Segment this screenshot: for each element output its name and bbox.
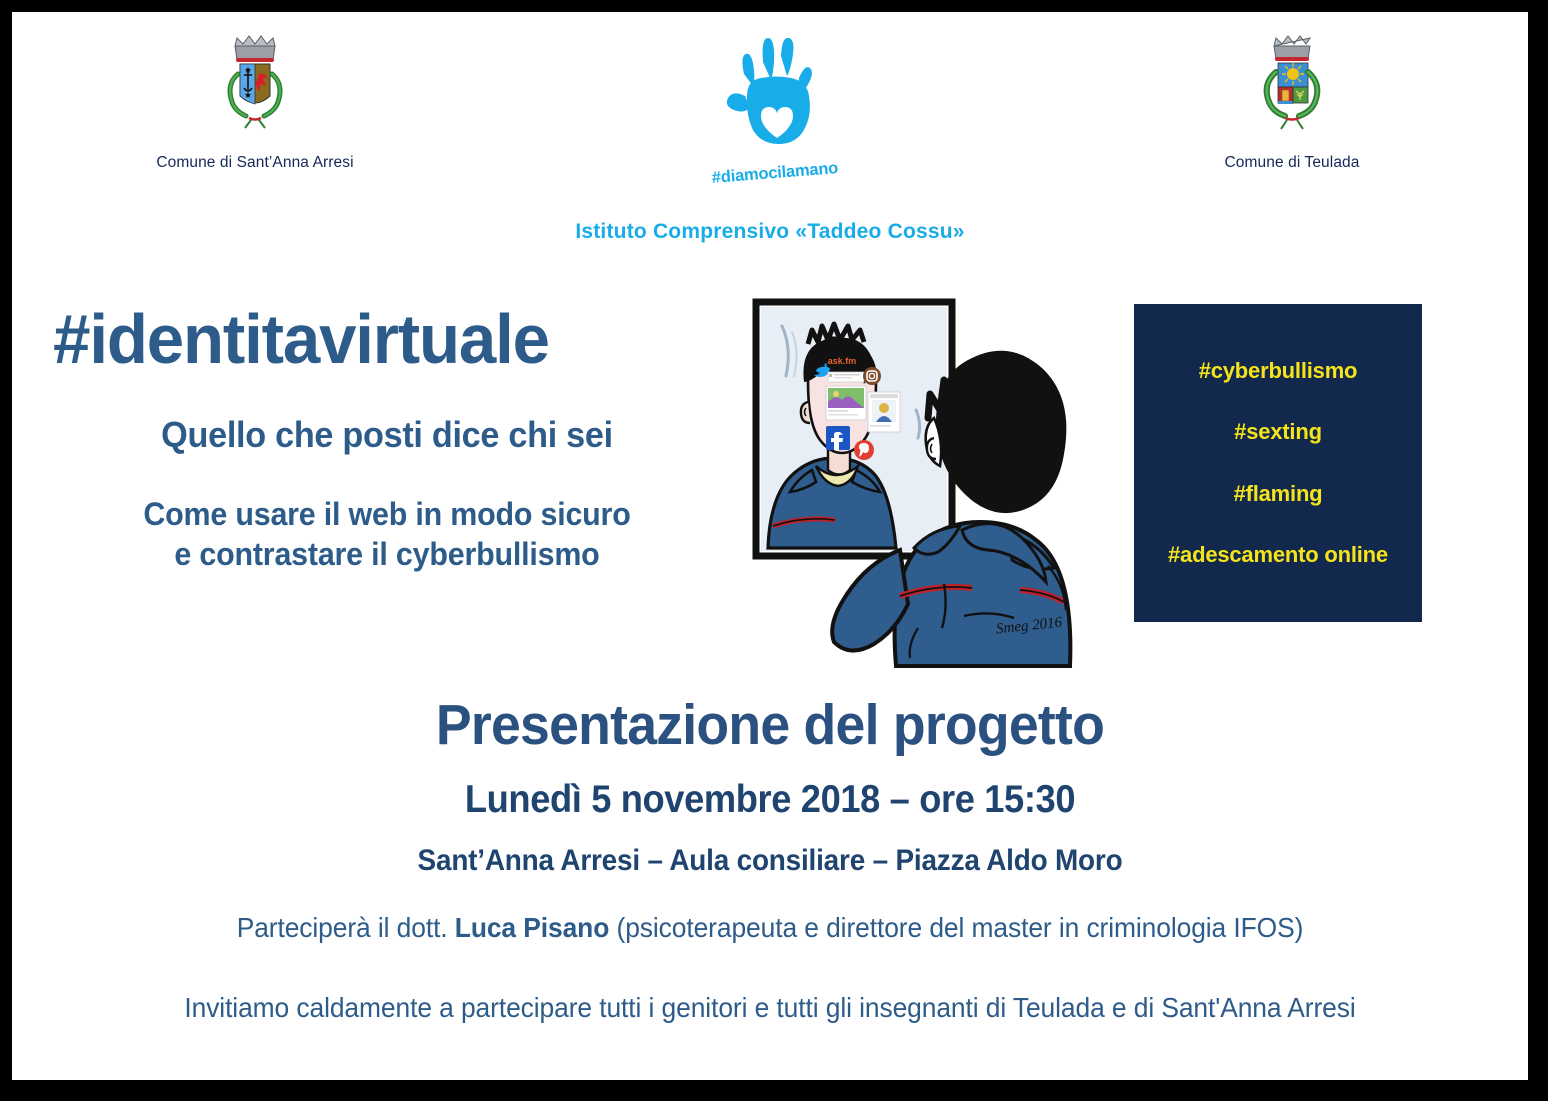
hashtag-item: #flaming (1234, 481, 1323, 507)
poster-canvas: Comune di Sant’Anna Arresi (12, 12, 1528, 1080)
event-location: Sant’Anna Arresi – Aula consiliare – Pia… (65, 844, 1475, 878)
illustration-boy-mirror: ask.fm (748, 298, 1108, 673)
logo-diamocilamano: #diamocilamano (695, 34, 855, 183)
diamocilamano-tagline: #diamocilamano (695, 158, 856, 189)
invitation-note: Invitiamo caldamente a partecipare tutti… (42, 992, 1497, 1024)
title-column: #identitavirtuale Quello che posti dice … (32, 304, 742, 574)
coat-of-arms-santanna-arresi-icon (215, 30, 295, 146)
event-block: Presentazione del progetto Lunedì 5 nove… (12, 692, 1528, 878)
hashtag-item: #adescamento online (1168, 542, 1388, 568)
header-row: Comune di Sant’Anna Arresi (12, 12, 1528, 212)
event-headline: Presentazione del progetto (57, 692, 1482, 758)
hashtag-item: #sexting (1234, 419, 1322, 445)
hashtag-item: #cyberbullismo (1199, 358, 1358, 384)
subtitle-secondary-line2: e contrastare il cyberbullismo (50, 534, 725, 574)
askfm-label: ask.fm (828, 356, 857, 366)
logo-teulada: Comune di Teulada (1167, 30, 1417, 172)
page-title: #identitavirtuale (32, 304, 714, 374)
hashtag-topics-box: #cyberbullismo #sexting #flaming #adesca… (1134, 304, 1422, 622)
logo-teulada-caption: Comune di Teulada (1167, 154, 1417, 172)
coat-of-arms-teulada-icon (1252, 30, 1332, 146)
logo-santanna-arresi: Comune di Sant’Anna Arresi (130, 30, 380, 172)
school-name: Istituto Comprensivo «Taddeo Cossu» (12, 220, 1528, 244)
footer-notes: Parteciperà il dott. Luca Pisano (psicot… (12, 912, 1528, 1024)
speaker-note: Parteciperà il dott. Luca Pisano (psicot… (42, 912, 1497, 944)
speaker-note-suffix: (psicoterapeuta e direttore del master i… (609, 912, 1303, 943)
blue-hand-heart-icon (715, 34, 835, 162)
logo-santanna-arresi-caption: Comune di Sant’Anna Arresi (130, 154, 380, 172)
subtitle-secondary-line1: Come usare il web in modo sicuro (50, 494, 725, 534)
speaker-note-prefix: Parteciperà il dott. (237, 912, 455, 943)
event-date: Lunedì 5 novembre 2018 – ore 15:30 (65, 778, 1475, 822)
subtitle-primary: Quello che posti dice chi sei (50, 414, 725, 456)
speaker-name: Luca Pisano (455, 912, 609, 943)
poster-frame: Comune di Sant’Anna Arresi (0, 0, 1548, 1101)
subtitle-secondary: Come usare il web in modo sicuro e contr… (50, 494, 725, 574)
